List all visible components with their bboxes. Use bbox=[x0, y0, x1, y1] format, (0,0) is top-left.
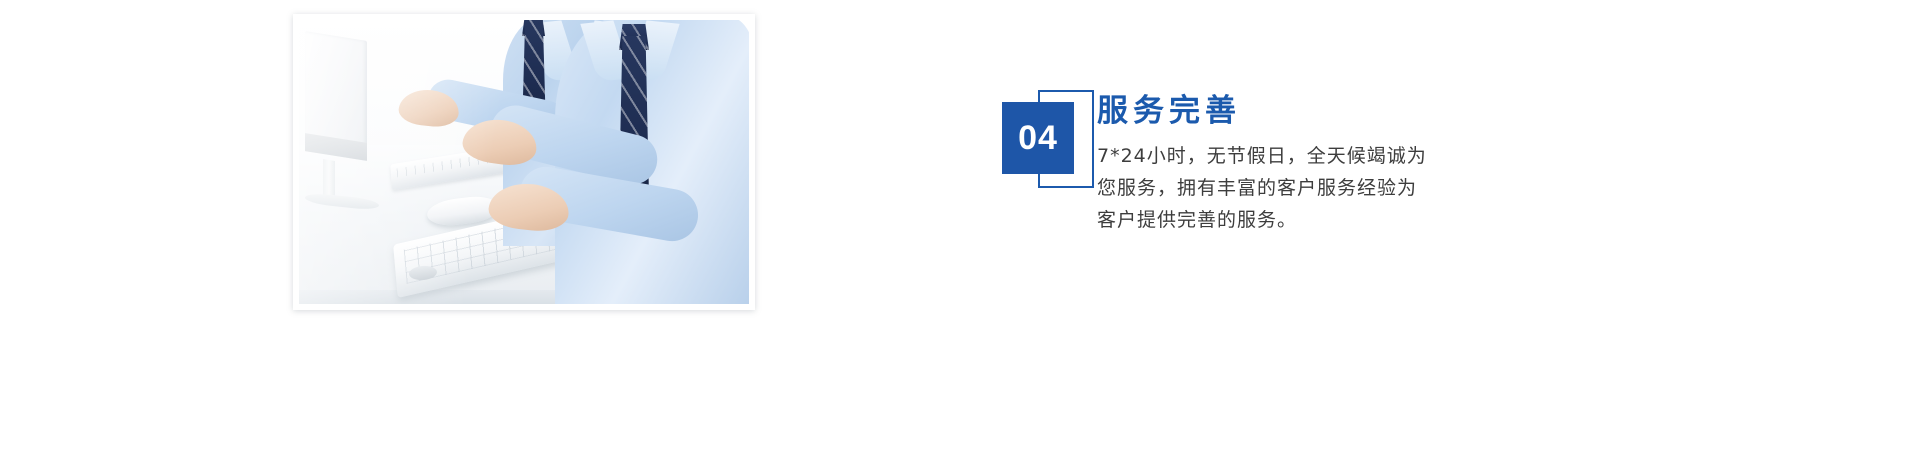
monitor-stand-neck bbox=[323, 159, 335, 199]
description-line: 客户提供完善的服务。 bbox=[1097, 204, 1517, 236]
description-line: 您服务，拥有丰富的客户服务经验为 bbox=[1097, 172, 1517, 204]
office-photo bbox=[299, 20, 749, 304]
service-feature-section: 04 服务完善 7*24小时，无节假日，全天候竭诚为 您服务，拥有丰富的客户服务… bbox=[0, 0, 1920, 452]
badge-number: 04 bbox=[1002, 102, 1074, 174]
description-line: 7*24小时，无节假日，全天候竭诚为 bbox=[1097, 140, 1517, 172]
feature-text-column: 服务完善 7*24小时，无节假日，全天候竭诚为 您服务，拥有丰富的客户服务经验为… bbox=[1097, 92, 1517, 236]
step-badge: 04 bbox=[1002, 90, 1094, 188]
photo-frame bbox=[293, 14, 755, 310]
page-title: 服务完善 bbox=[1097, 92, 1517, 130]
agent-front bbox=[555, 20, 749, 304]
feature-description: 7*24小时，无节假日，全天候竭诚为 您服务，拥有丰富的客户服务经验为 客户提供… bbox=[1097, 140, 1517, 236]
